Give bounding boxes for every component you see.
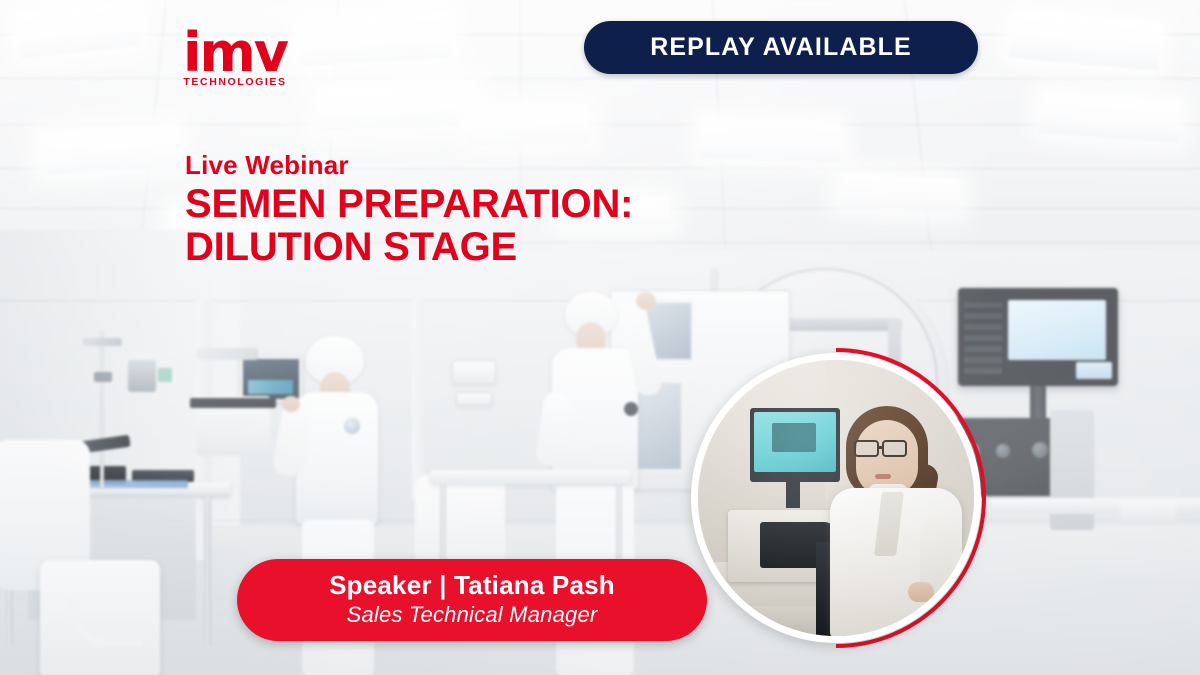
portrait-person [816, 396, 974, 636]
portrait-lips [875, 474, 891, 479]
portrait-photo [698, 360, 974, 636]
webinar-title-line1: SEMEN PREPARATION: [185, 183, 633, 225]
speaker-name: Speaker | Tatiana Pash [329, 571, 615, 600]
webinar-title-line2: DILUTION STAGE [185, 226, 633, 268]
title-block: Live Webinar SEMEN PREPARATION: DILUTION… [185, 152, 633, 268]
logo-wordmark: imv [183, 30, 287, 75]
badge-label: REPLAY AVAILABLE [650, 33, 912, 62]
portrait-glasses-right-lens [882, 440, 907, 457]
portrait-glasses-bridge [879, 446, 884, 449]
portrait-monitor-stem [786, 482, 800, 508]
replay-available-badge[interactable]: REPLAY AVAILABLE [584, 21, 978, 74]
speaker-portrait [686, 348, 986, 648]
speaker-role: Sales Technical Manager [347, 602, 598, 627]
speaker-banner: Speaker | Tatiana Pash Sales Technical M… [237, 559, 707, 641]
webinar-kicker: Live Webinar [185, 152, 633, 179]
portrait-glasses-left-lens [854, 440, 879, 457]
webinar-promo-banner: imv TECHNOLOGIES REPLAY AVAILABLE Live W… [0, 0, 1200, 675]
logo-tagline: TECHNOLOGIES [183, 76, 286, 88]
portrait-hand [908, 582, 934, 602]
imv-logo[interactable]: imv TECHNOLOGIES [170, 28, 300, 90]
